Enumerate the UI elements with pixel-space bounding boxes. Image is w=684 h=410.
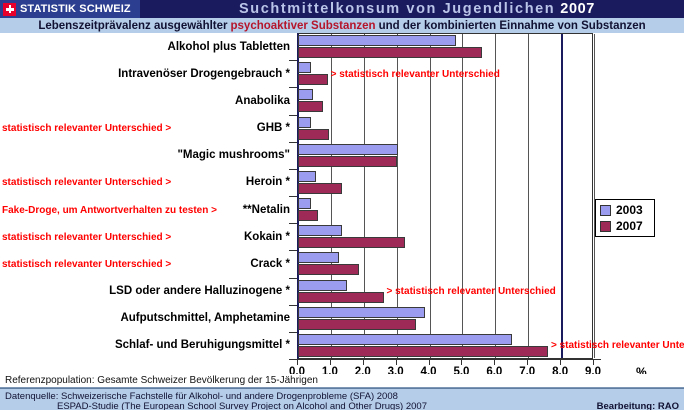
category-label: Aufputschmittel, Amphetamine [120,312,290,324]
category-tick [289,223,297,224]
bar-row: Heroin *statistisch relevanter Unterschi… [0,169,684,196]
logo-text: STATISTIK SCHWEIZ [20,3,131,15]
significance-note: > statistisch relevanter Unterschied [387,286,556,297]
category-tick [289,87,297,88]
category-tick [289,278,297,279]
category-label: Schlaf- und Beruhigungsmittel * [115,339,290,351]
category-tick [289,60,297,61]
subtitle-highlight: psychoaktiver Substanzen [231,20,376,32]
category-tick [289,250,297,251]
bar-2003 [298,89,313,100]
significance-note: > statistisch relevanter Unterschied [551,340,684,351]
source-box: Datenquelle: Schweizerische Fachstelle f… [0,388,684,410]
category-tick [289,169,297,170]
bar-2007 [298,156,397,167]
x-tick-7.0 [527,359,528,365]
subtitle-part1: Lebenszeitprävalenz ausgewählter [38,20,227,32]
page-title: Suchtmittelkonsum von Jugendlichen 2007 [150,0,684,18]
bar-row: "Magic mushrooms" [0,142,684,169]
x-tick-8.0 [560,359,561,365]
legend-swatch-2007 [600,221,611,232]
legend-item-2007: 2007 [600,219,650,233]
x-axis-line [289,359,601,360]
bar-2003 [298,144,398,155]
bar-2007 [298,183,342,194]
bar-row: Anabolika [0,87,684,114]
page-title-year: 2007 [560,1,595,17]
bar-2003 [298,35,456,46]
category-label: Kokain * [244,231,290,243]
bar-2007 [298,319,416,330]
category-tick [289,305,297,306]
category-label: GHB * [257,122,290,134]
x-tick-9.0 [593,359,594,365]
bar-2007 [298,292,384,303]
bar-2007 [298,47,482,58]
reference-population-text: Referenzpopulation: Gesamte Schweizer Be… [5,375,318,386]
bar-2003 [298,280,347,291]
bar-row: LSD oder andere Halluzinogene *> statist… [0,278,684,305]
bar-2003 [298,225,342,236]
category-label: Anabolika [235,95,290,107]
category-label: Alkohol plus Tabletten [168,41,290,53]
bar-2007 [298,129,329,140]
category-label: Intravenöser Drogengebrauch * [118,68,290,80]
bar-row: Alkohol plus Tabletten [0,33,684,60]
category-label: Heroin * [246,176,290,188]
bar-2007 [298,210,318,221]
page-subtitle: Lebenszeitprävalenz ausgewählter psychoa… [0,18,684,33]
x-tick-4.0 [429,359,430,365]
significance-note: Fake-Droge, um Antwortverhalten zu teste… [2,205,217,216]
legend-label-2007: 2007 [616,219,643,233]
editor-credit: Bearbeitung: RAO [597,401,679,410]
significance-note: statistisch relevanter Unterschied > [2,232,171,243]
subtitle-part2: und der kombinierten Einnahme von Substa… [379,20,646,32]
category-tick [289,196,297,197]
significance-note: statistisch relevanter Unterschied > [2,259,171,270]
category-label: LSD oder andere Halluzinogene * [109,285,290,297]
category-tick [289,115,297,116]
category-tick [289,142,297,143]
bar-2003 [298,62,311,73]
bar-2007 [298,101,323,112]
title-bar: STATISTIK SCHWEIZ Suchtmittelkonsum von … [0,0,684,18]
category-label: "Magic mushrooms" [177,149,290,161]
x-tick-2.0 [363,359,364,365]
legend-item-2003: 2003 [600,203,650,217]
bar-row: Kokain *statistisch relevanter Unterschi… [0,223,684,250]
statistik-schweiz-logo: STATISTIK SCHWEIZ [0,0,140,18]
bar-2003 [298,117,311,128]
significance-note: statistisch relevanter Unterschied > [2,123,171,134]
x-tick-6.0 [494,359,495,365]
bar-row: Schlaf- und Beruhigungsmittel *> statist… [0,332,684,359]
bar-2003 [298,198,311,209]
bar-2007 [298,346,548,357]
x-tick-3.0 [396,359,397,365]
page-title-text: Suchtmittelkonsum von Jugendlichen [239,1,555,17]
bar-row: Aufputschmittel, Amphetamine [0,305,684,332]
bar-2003 [298,171,316,182]
x-tick-1.0 [330,359,331,365]
chart-legend: 2003 2007 [595,199,655,237]
x-tick-5.0 [461,359,462,365]
bar-2007 [298,74,328,85]
bar-row: Crack *statistisch relevanter Unterschie… [0,250,684,277]
significance-note: statistisch relevanter Unterschied > [2,177,171,188]
bar-2003 [298,334,512,345]
chart-page: STATISTIK SCHWEIZ Suchtmittelkonsum von … [0,0,684,410]
bar-2003 [298,307,425,318]
bar-2003 [298,252,339,263]
category-label: Crack * [250,258,290,270]
source-line-2: ESPAD-Studie (The European School Survey… [57,401,427,410]
bar-2007 [298,237,405,248]
chart-area: 0.01.02.03.04.05.06.07.08.09.0 % Alkohol… [0,33,684,373]
legend-swatch-2003 [600,205,611,216]
x-tick-0.0 [297,359,298,365]
bar-2007 [298,264,359,275]
reference-population: Referenzpopulation: Gesamte Schweizer Be… [0,374,684,388]
legend-label-2003: 2003 [616,203,643,217]
swiss-cross-icon [3,3,16,16]
category-label: **Netalin [243,204,290,216]
category-tick [289,332,297,333]
bar-row: GHB *statistisch relevanter Unterschied … [0,115,684,142]
significance-note: > statistisch relevanter Unterschied [331,69,500,80]
bar-row: **NetalinFake-Droge, um Antwortverhalten… [0,196,684,223]
bar-row: Intravenöser Drogengebrauch *> statistis… [0,60,684,87]
